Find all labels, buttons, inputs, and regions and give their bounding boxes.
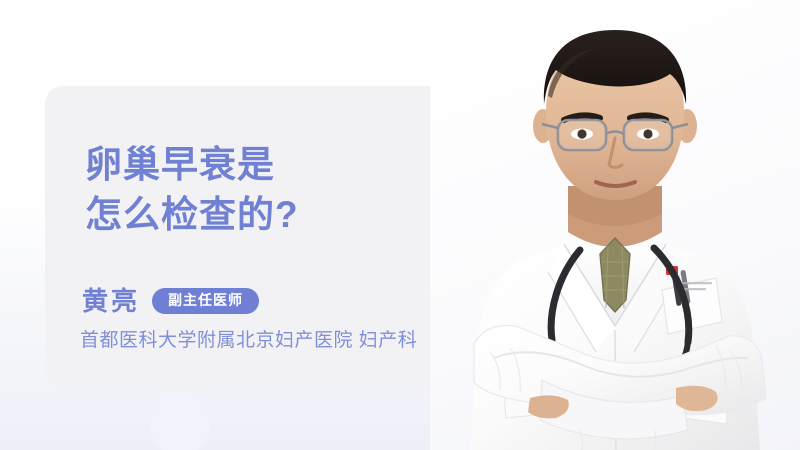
cover-image-canvas: 卵巢早衰是 怎么检查的? 黄亮 副主任医师 首都医科大学附属北京妇产医院 妇产科 [0, 0, 800, 450]
page-title: 卵巢早衰是 怎么检查的? [85, 140, 415, 240]
doctor-portrait-illustration [430, 0, 800, 450]
doctor-name: 黄亮 [82, 286, 140, 316]
doctor-affiliation: 首都医科大学附属北京妇产医院 妇产科 [80, 328, 417, 354]
doctor-title-badge: 副主任医师 [152, 288, 259, 314]
doctor-photo [430, 0, 800, 450]
doctor-identity-row: 黄亮 副主任医师 [82, 286, 259, 316]
